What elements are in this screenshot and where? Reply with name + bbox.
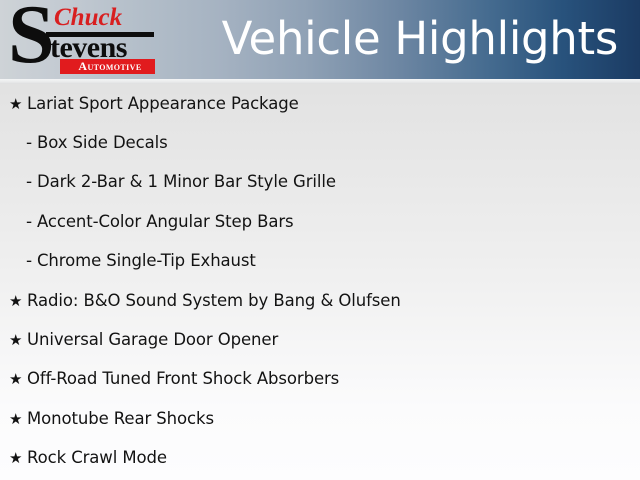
highlight-item: ★Rock Crawl Mode	[0, 439, 640, 478]
logo-first-name: Chuck	[54, 5, 122, 30]
star-bullet-icon: ★	[9, 292, 27, 310]
highlight-item: ★Lariat Sport Appearance Package	[0, 84, 640, 123]
highlight-text: Monotube Rear Shocks	[27, 409, 214, 429]
highlight-text: Rock Crawl Mode	[27, 448, 167, 468]
vehicle-highlights-page: S Chuck tevens Automotive Vehicle Highli…	[0, 0, 640, 480]
star-bullet-icon: ★	[9, 410, 27, 428]
dash-bullet-icon: -	[26, 252, 37, 270]
highlight-subitem: -Chrome Single-Tip Exhaust	[0, 242, 640, 281]
highlight-text: Box Side Decals	[37, 133, 168, 153]
highlight-text: Universal Garage Door Opener	[27, 330, 278, 350]
highlight-text: Off-Road Tuned Front Shock Absorbers	[27, 369, 339, 389]
logo-monogram-s: S	[8, 0, 53, 77]
dash-bullet-icon: -	[26, 213, 37, 231]
highlight-subitem: -Box Side Decals	[0, 123, 640, 162]
highlight-item: ★Monotube Rear Shocks	[0, 399, 640, 438]
dash-bullet-icon: -	[26, 173, 37, 191]
highlight-subitem: -Accent-Color Angular Step Bars	[0, 202, 640, 241]
logo-tagline-text: Automotive	[64, 59, 156, 74]
star-bullet-icon: ★	[9, 331, 27, 349]
star-bullet-icon: ★	[9, 95, 27, 113]
page-title: Vehicle Highlights	[222, 8, 618, 70]
star-bullet-icon: ★	[9, 449, 27, 467]
highlight-text: Chrome Single-Tip Exhaust	[37, 251, 256, 271]
highlight-subitem: -Dark 2-Bar & 1 Minor Bar Style Grille	[0, 163, 640, 202]
dash-bullet-icon: -	[26, 134, 37, 152]
highlight-text: Radio: B&O Sound System by Bang & Olufse…	[27, 291, 401, 311]
star-bullet-icon: ★	[9, 370, 27, 388]
highlight-item: ★Radio: B&O Sound System by Bang & Olufs…	[0, 281, 640, 320]
highlight-item: ★Off-Road Tuned Front Shock Absorbers	[0, 360, 640, 399]
highlight-text: Accent-Color Angular Step Bars	[37, 212, 294, 232]
dealer-logo[interactable]: S Chuck tevens Automotive	[6, 2, 166, 77]
highlight-text: Lariat Sport Appearance Package	[27, 94, 299, 114]
highlight-item: ★Universal Garage Door Opener	[0, 320, 640, 359]
highlight-text: Dark 2-Bar & 1 Minor Bar Style Grille	[37, 172, 336, 192]
highlights-list: ★Lariat Sport Appearance Package-Box Sid…	[0, 84, 640, 478]
page-header: S Chuck tevens Automotive Vehicle Highli…	[0, 0, 640, 79]
